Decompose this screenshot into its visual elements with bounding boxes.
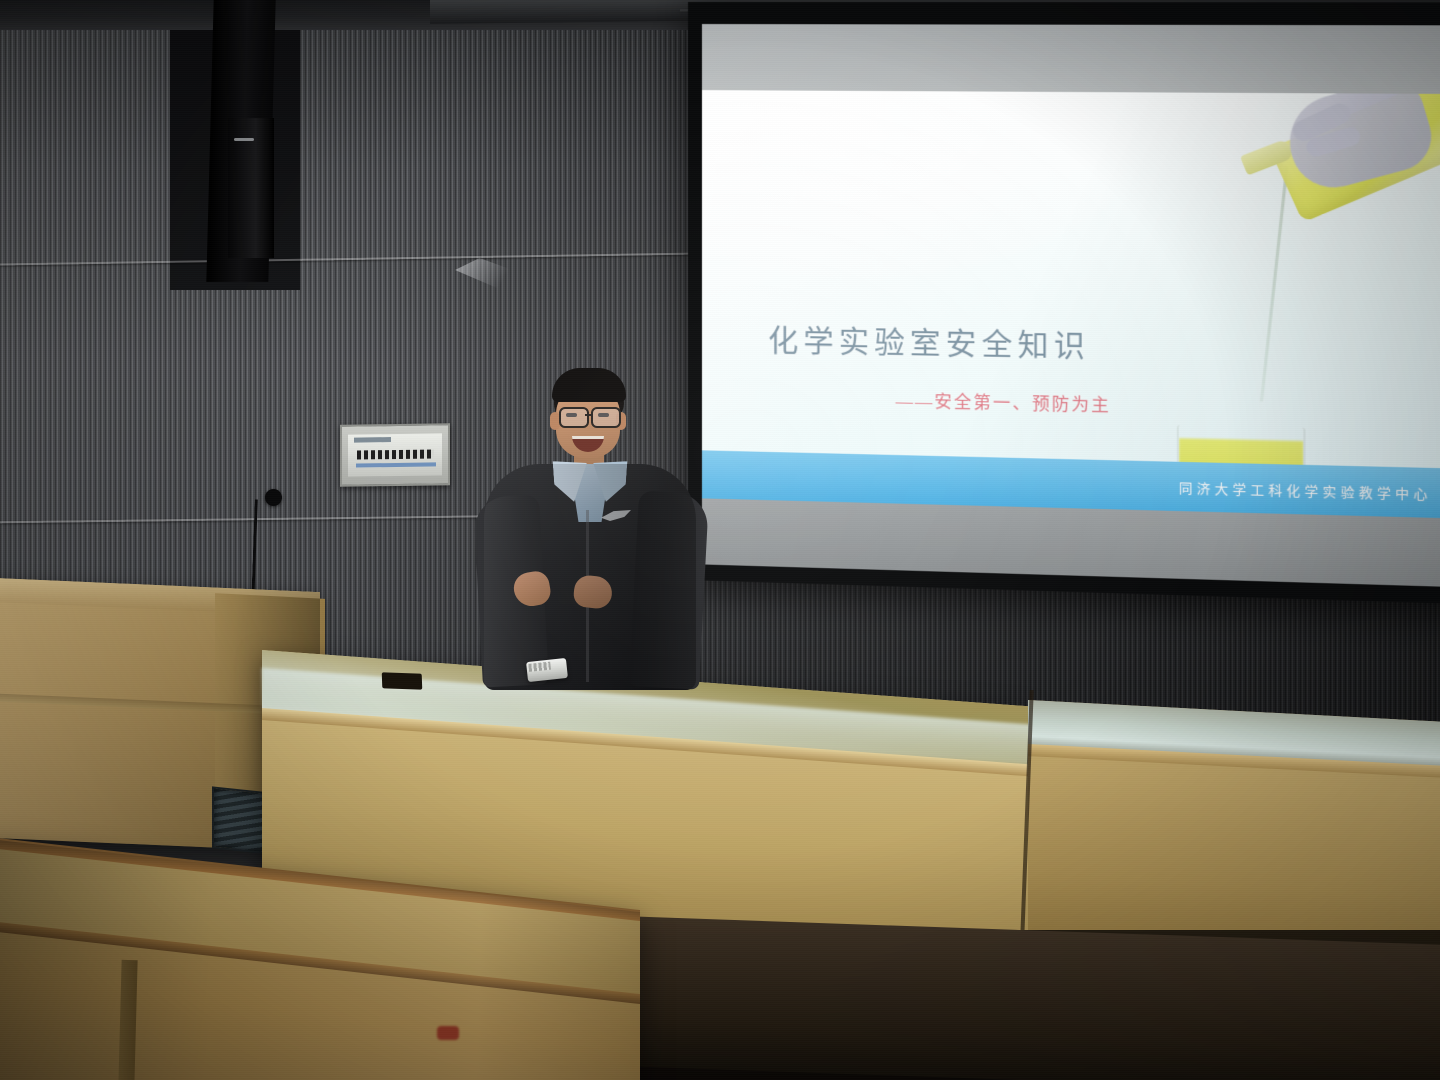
- hair-top: [552, 368, 626, 402]
- presenter: [470, 360, 710, 690]
- breaker-busbar: [356, 462, 437, 467]
- slide-photo: [1137, 92, 1440, 518]
- breaker-switch-row[interactable]: [357, 449, 434, 459]
- eyeglasses-bridge: [585, 414, 591, 416]
- desk-cable-grommet: [382, 672, 423, 689]
- lecture-bench-leg: [118, 960, 137, 1080]
- presentation-remote[interactable]: [526, 658, 568, 682]
- breaker-label-plate: [354, 437, 392, 443]
- slide-subtitle: ——安全第一、预防为主: [896, 386, 1111, 416]
- photo-scene: 化学实验室安全知识 ——安全第一、预防为主 同济大学工科化学实验教学中心: [0, 0, 1440, 1080]
- projection-screen-surface: 化学实验室安全知识 ——安全第一、预防为主 同济大学工科化学实验教学中心: [702, 24, 1440, 587]
- projector-overscan-top: [702, 24, 1440, 94]
- bench-right-dark: [590, 915, 1440, 1080]
- projection-screen: 化学实验室安全知识 ——安全第一、预防为主 同济大学工科化学实验教学中心: [688, 2, 1440, 604]
- floor-marker: [437, 1026, 459, 1040]
- breaker-panel-face: [348, 433, 442, 476]
- liquid-stream-icon: [1260, 166, 1289, 402]
- eyeglasses-lens-right: [591, 407, 621, 428]
- eyeglasses-lens-left: [559, 407, 589, 428]
- remote-keypad-icon[interactable]: [528, 662, 551, 672]
- breaker-panel[interactable]: [340, 423, 450, 487]
- slide-title: 化学实验室安全知识: [768, 315, 1090, 365]
- jacket-sleeve-right: [629, 490, 709, 689]
- slide-footer-text: 同济大学工科化学实验教学中心: [1179, 477, 1432, 503]
- slide-glare: [702, 90, 1185, 302]
- speaker-led-icon: [234, 138, 254, 141]
- presentation-slide: 化学实验室安全知识 ——安全第一、预防为主 同济大学工科化学实验教学中心: [702, 90, 1440, 518]
